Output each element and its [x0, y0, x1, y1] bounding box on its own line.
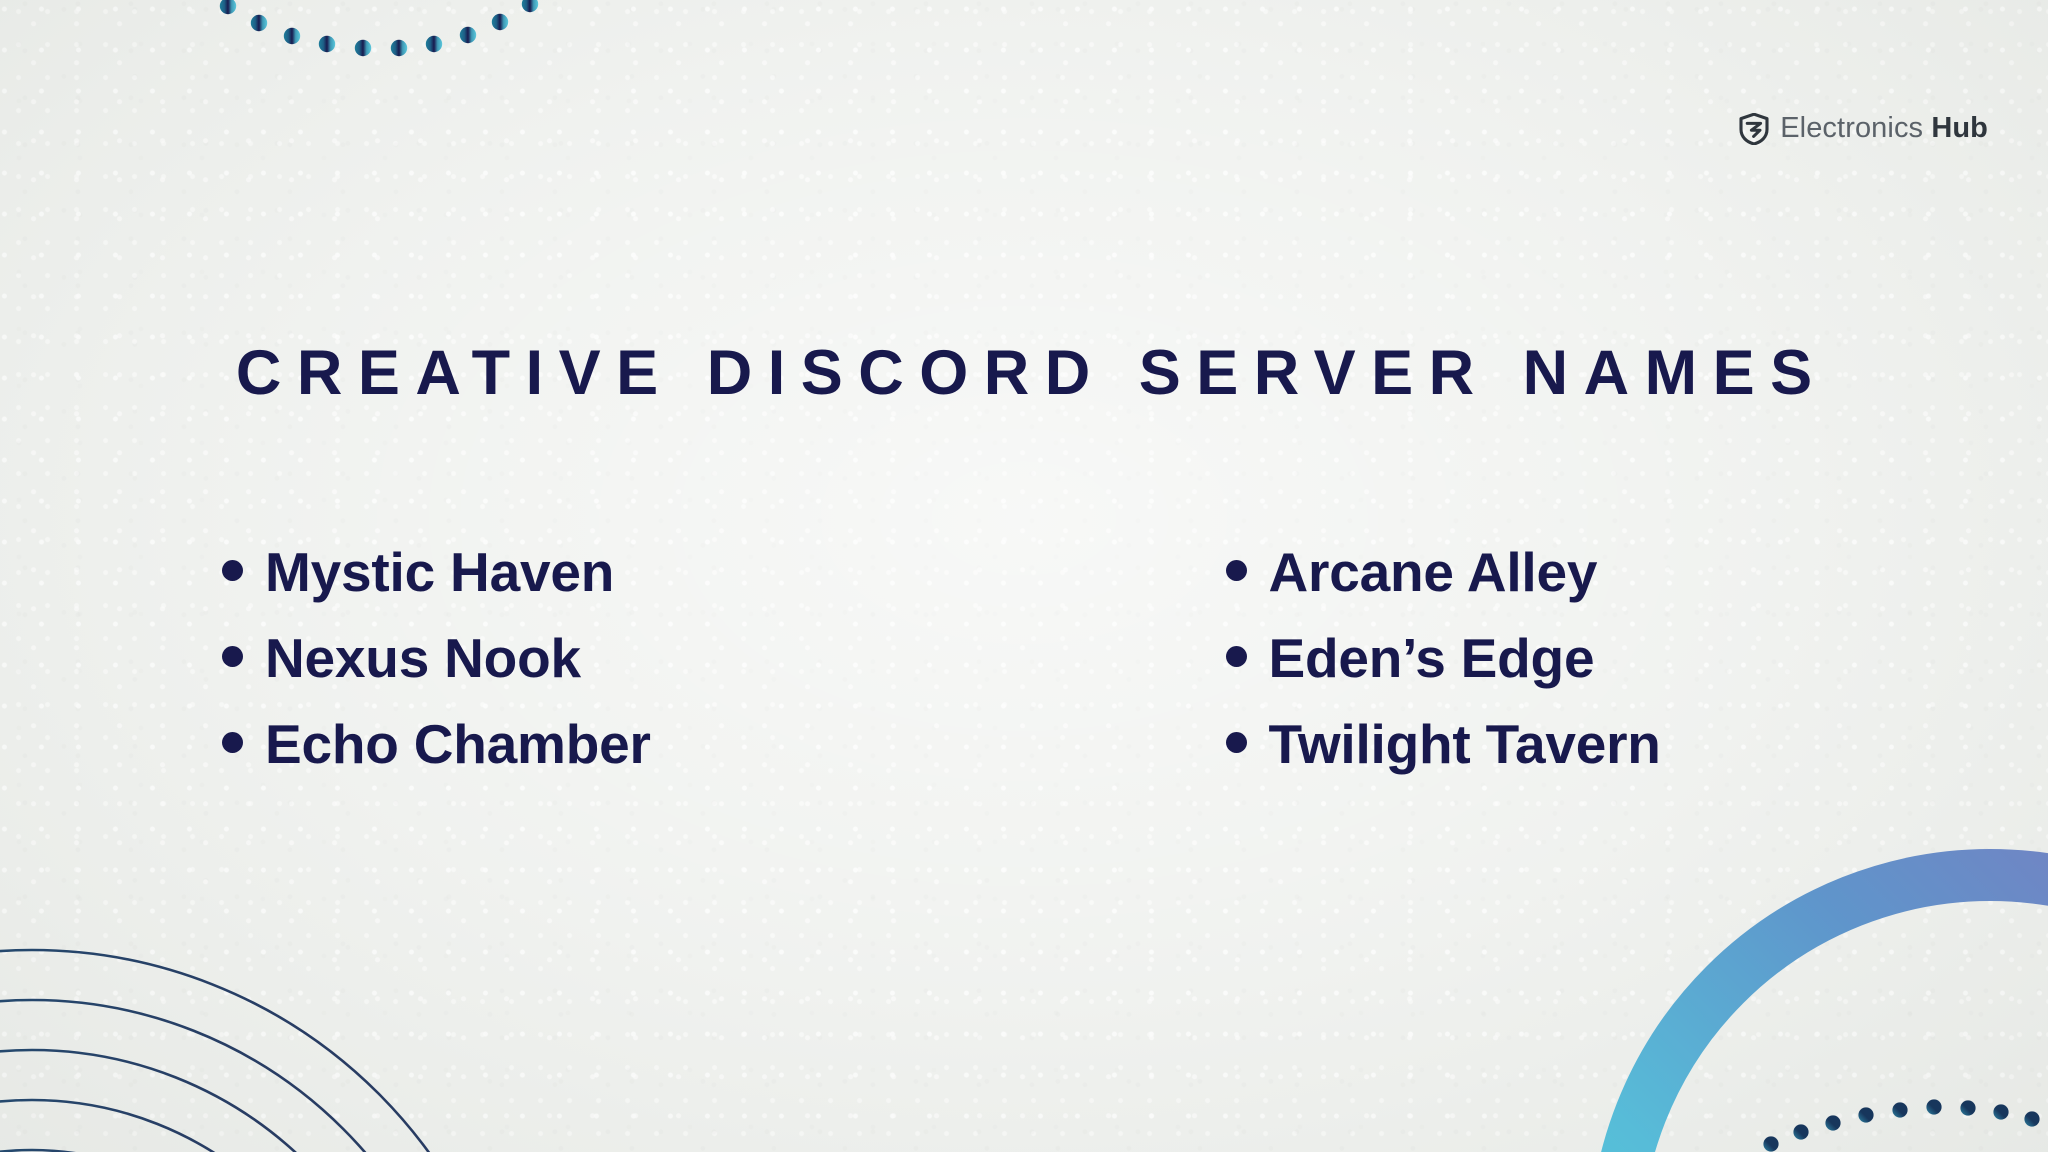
- bullet-icon: [1226, 646, 1247, 667]
- slide-canvas: Electronics Hub CREATIVE DISCORD SERVER …: [0, 0, 2048, 1152]
- list-item: Nexus Nook: [222, 631, 1045, 717]
- list-item: Echo Chamber: [222, 717, 1045, 803]
- dotted-arc-top-icon: [120, 0, 640, 180]
- list-item-label: Arcane Alley: [1269, 545, 1598, 600]
- name-column-right: Arcane Alley Eden’s Edge Twilight Tavern: [1045, 545, 2048, 803]
- brand-logo: Electronics Hub: [1739, 112, 1988, 145]
- brand-wordmark: Electronics Hub: [1780, 112, 1988, 145]
- name-columns: Mystic Haven Nexus Nook Echo Chamber Arc…: [0, 545, 2048, 803]
- list-item-label: Nexus Nook: [265, 631, 581, 686]
- list-item-label: Eden’s Edge: [1269, 631, 1595, 686]
- shield-icon: [1739, 113, 1769, 145]
- bullet-icon: [1226, 732, 1247, 753]
- list-item: Eden’s Edge: [1226, 631, 2048, 717]
- bullet-icon: [222, 646, 243, 667]
- page-title: CREATIVE DISCORD SERVER NAMES: [0, 342, 2048, 405]
- list-item: Arcane Alley: [1226, 545, 2048, 631]
- list-item: Twilight Tavern: [1226, 717, 2048, 803]
- name-column-left: Mystic Haven Nexus Nook Echo Chamber: [0, 545, 1045, 803]
- dotted-arc-bottom-right-icon: [1620, 1020, 2048, 1152]
- bullet-icon: [222, 732, 243, 753]
- list-item-label: Echo Chamber: [265, 717, 651, 772]
- brand-name-bold: Hub: [1931, 112, 1988, 144]
- list-item: Mystic Haven: [222, 545, 1045, 631]
- brand-name-light: Electronics: [1780, 112, 1923, 144]
- list-item-label: Mystic Haven: [265, 545, 614, 600]
- list-item-label: Twilight Tavern: [1269, 717, 1661, 772]
- bullet-icon: [222, 560, 243, 581]
- gradient-arc-bottom-right-icon: [1520, 820, 2048, 1152]
- bullet-icon: [1226, 560, 1247, 581]
